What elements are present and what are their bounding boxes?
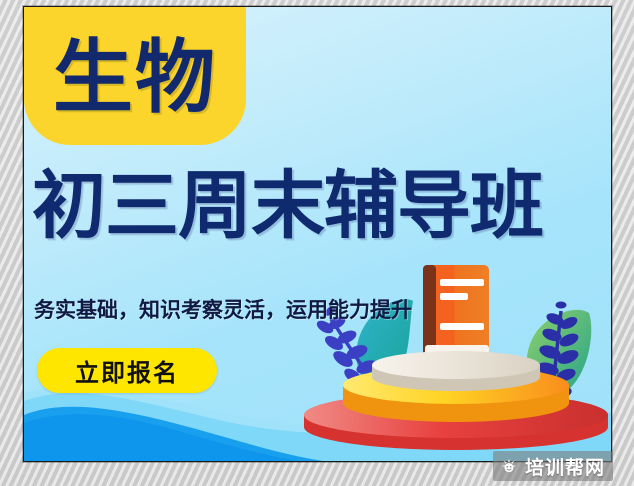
sun-face-icon [499,456,519,476]
watermark: 培训帮网 [493,451,613,481]
poster-subtitle: 务实基础，知识考察灵活，运用能力提升 [34,294,412,324]
subject-badge: 生物 [24,6,246,145]
enroll-now-button[interactable]: 立即报名 [37,348,217,393]
podium-tier-cream [372,351,540,391]
subject-badge-label: 生物 [53,32,217,118]
watermark-text: 培训帮网 [525,453,605,480]
course-promo-poster: 生物 初三周末辅导班 务实基础，知识考察灵活，运用能力提升 立即报名 [23,6,612,462]
enroll-now-label: 立即报名 [75,353,179,388]
podium-book-illustration [289,257,612,457]
screenshot-root: 生物 初三周末辅导班 务实基础，知识考察灵活，运用能力提升 立即报名 培训帮网 [0,0,634,486]
poster-headline: 初三周末辅导班 [32,169,612,243]
orange-book [423,265,489,359]
